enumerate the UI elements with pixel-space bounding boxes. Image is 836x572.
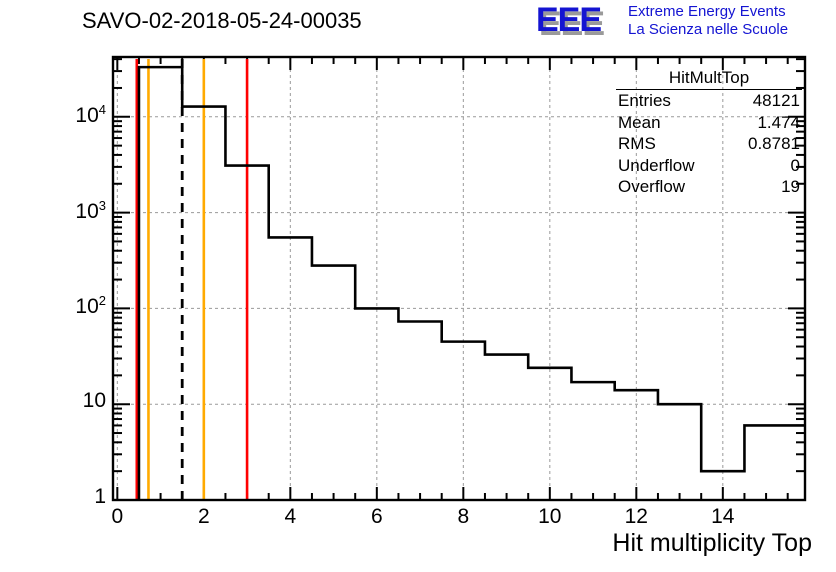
y-tick-label-10: 10 [30, 389, 106, 413]
stats-row-rms: RMS0.8781 [616, 133, 802, 155]
stats-value: 0 [791, 155, 800, 177]
y-tick-label-1: 1 [30, 485, 106, 509]
stats-box-rows: Entries48121Mean1.474RMS0.8781Underflow0… [616, 90, 802, 198]
x-tick-label-2: 2 [179, 505, 229, 529]
stats-key: Underflow [618, 155, 695, 177]
stats-row-entries: Entries48121 [616, 90, 802, 112]
x-tick-label-10: 10 [525, 505, 575, 529]
x-tick-label-6: 6 [352, 505, 402, 529]
stats-box: HitMultTop Entries48121Mean1.474RMS0.878… [616, 68, 802, 198]
stats-value: 1.474 [757, 112, 800, 134]
marker-lines [137, 59, 247, 499]
stats-row-mean: Mean1.474 [616, 112, 802, 134]
stats-key: Overflow [618, 176, 685, 198]
stats-value: 0.8781 [748, 133, 800, 155]
x-tick-label-4: 4 [265, 505, 315, 529]
stats-key: Entries [618, 90, 671, 112]
stats-key: RMS [618, 133, 656, 155]
x-tick-label-12: 12 [611, 505, 661, 529]
x-axis-title: Hit multiplicity Top [612, 529, 812, 558]
stats-value: 48121 [753, 90, 800, 112]
stats-box-title: HitMultTop [616, 68, 802, 90]
x-tick-label-14: 14 [698, 505, 748, 529]
stats-row-underflow: Underflow0 [616, 155, 802, 177]
y-tick-label-10⁴: 104 [30, 102, 106, 128]
y-tick-label-10²: 102 [30, 293, 106, 319]
stats-key: Mean [618, 112, 661, 134]
y-tick-label-10³: 103 [30, 198, 106, 224]
stats-value: 19 [781, 176, 800, 198]
x-tick-label-8: 8 [438, 505, 488, 529]
stats-row-overflow: Overflow19 [616, 176, 802, 198]
